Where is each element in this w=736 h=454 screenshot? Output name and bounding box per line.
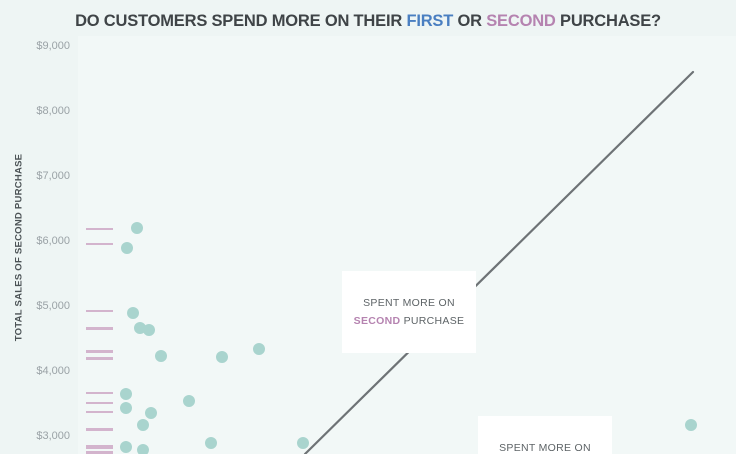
y-tick-label: $8,000 [36,105,70,117]
y-axis-tick-labels: $9,000$8,000$7,000$6,000$5,000$4,000$3,0… [0,0,70,454]
scatter-point[interactable] [120,402,132,414]
axis-edge-mark[interactable] [86,243,113,245]
scatter-point[interactable] [216,351,228,363]
scatter-point[interactable] [183,395,195,407]
y-tick-label: $4,000 [36,365,70,377]
title-segment-plain-3: PURCHASE? [556,12,661,30]
scatter-point[interactable] [205,437,217,449]
annotation-second-tail: PURCHASE [400,315,464,327]
plot-area: SPENT MORE ON SECOND PURCHASE SPENT MORE… [78,36,736,454]
scatter-point[interactable] [143,324,155,336]
scatter-point[interactable] [120,388,132,400]
annotation-spent-more-on-first: SPENT MORE ON FIRST PURCHASE [478,416,612,454]
axis-edge-mark[interactable] [86,392,113,394]
y-tick-label: $7,000 [36,170,70,182]
annotation-spent-more-on-second: SPENT MORE ON SECOND PURCHASE [342,271,476,353]
axis-edge-mark[interactable] [86,402,113,404]
axis-edge-mark[interactable] [86,445,113,449]
annotation-second-accent: SECOND [354,315,401,327]
axis-edge-mark[interactable] [86,451,113,454]
axis-edge-mark[interactable] [86,228,113,230]
scatter-point[interactable] [137,444,149,454]
title-segment-plain-2: OR [453,12,486,30]
annotation-first-line1: SPENT MORE ON [499,439,591,454]
scatter-point[interactable] [297,437,309,449]
y-tick-label: $6,000 [36,235,70,247]
title-segment-first: FIRST [406,12,453,30]
scatter-point[interactable] [120,441,132,453]
scatter-point[interactable] [155,350,167,362]
y-tick-label: $9,000 [36,40,70,52]
axis-edge-mark[interactable] [86,428,113,431]
y-tick-label: $3,000 [36,430,70,442]
title-segment-plain-1: DO CUSTOMERS SPEND MORE ON THEIR [75,12,406,30]
axis-edge-mark[interactable] [86,411,113,413]
axis-edge-mark[interactable] [86,357,113,360]
chart-title: DO CUSTOMERS SPEND MORE ON THEIR FIRST O… [0,12,736,31]
axis-edge-mark[interactable] [86,327,113,330]
axis-edge-mark[interactable] [86,310,113,312]
scatter-point[interactable] [121,242,133,254]
parity-reference-line [78,36,736,454]
title-segment-second: SECOND [486,12,555,30]
y-tick-label: $5,000 [36,300,70,312]
scatter-point[interactable] [137,419,149,431]
annotation-second-line1: SPENT MORE ON [363,294,455,312]
scatter-point[interactable] [685,419,697,431]
axis-edge-mark[interactable] [86,350,113,353]
scatter-chart: DO CUSTOMERS SPEND MORE ON THEIR FIRST O… [0,0,736,454]
scatter-point[interactable] [127,307,139,319]
annotation-second-line2: SECOND PURCHASE [354,312,465,330]
scatter-point[interactable] [253,343,265,355]
scatter-point[interactable] [131,222,143,234]
scatter-point[interactable] [145,407,157,419]
